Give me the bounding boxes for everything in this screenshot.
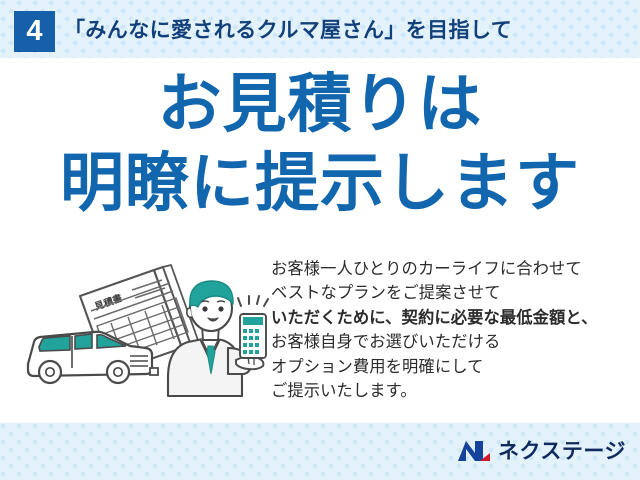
- calculator-icon: [240, 314, 266, 358]
- body-copy-line: いただくために、契約に必要な最低金額と、: [271, 306, 631, 330]
- body-copy-line: ベストなプランをご提案させて: [271, 281, 631, 305]
- body-copy: お客様一人ひとりのカーライフに合わせて ベストなプランをご提案させて いただくた…: [271, 257, 631, 403]
- footer-band: ネクステージ: [0, 423, 640, 480]
- section-number-badge: 4: [14, 11, 55, 52]
- headline-line-1: お見積りは: [0, 72, 640, 137]
- sparkle-icon: [238, 296, 268, 306]
- brand-name: ネクステージ: [498, 441, 626, 462]
- nextage-n-logo-icon: [457, 438, 491, 464]
- header-title: 「みんなに愛されるクルマ屋さん」を目指して: [64, 14, 512, 44]
- body-copy-line: お客様自身でお選びいただける: [271, 330, 631, 354]
- brand-logo: ネクステージ: [457, 436, 626, 466]
- header-band: 4 「みんなに愛されるクルマ屋さん」を目指して: [0, 0, 640, 58]
- estimate-document-van-salesman-illustration: 見積書: [22, 256, 270, 416]
- body-copy-line: ご提示いたします。: [271, 379, 631, 403]
- body-copy-line: お客様一人ひとりのカーライフに合わせて: [271, 257, 631, 281]
- body-copy-line: オプション費用を明確にして: [271, 355, 631, 379]
- headline-line-2: 明瞭に提示します: [0, 151, 640, 216]
- promo-banner: 4 「みんなに愛されるクルマ屋さん」を目指して お見積りは 明瞭に提示します お…: [0, 0, 640, 480]
- main-content: お見積りは 明瞭に提示します お客様一人ひとりのカーライフに合わせて ベストなプ…: [0, 58, 640, 423]
- headline: お見積りは 明瞭に提示します: [0, 72, 640, 217]
